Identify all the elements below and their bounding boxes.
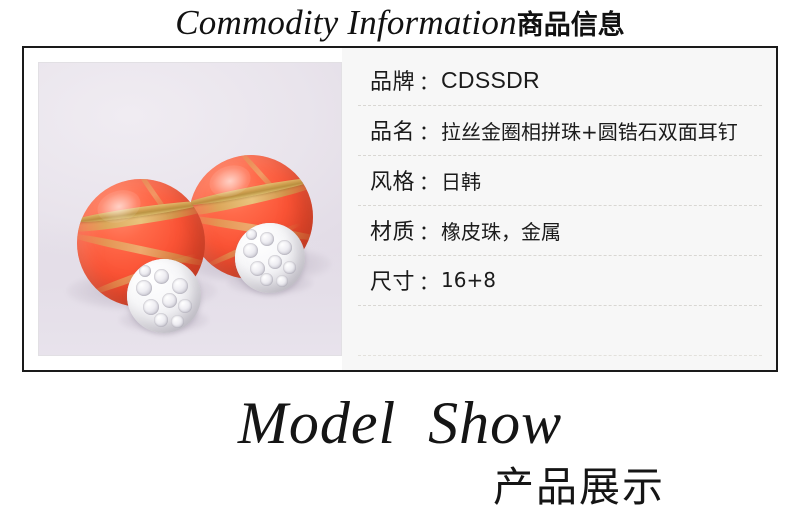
model-show-title-english: Model Show [0, 386, 800, 460]
product-image-pane [24, 48, 342, 370]
product-spec-pane: 品牌 ： CDSSDR 品名 ： 拉丝金圈相拼珠+圆锆石双面耳钉 风格 ： 日韩… [342, 48, 776, 370]
spec-row-style: 风格 ： 日韩 [358, 155, 762, 206]
spec-value-style: 日韩 [441, 166, 481, 195]
crystal-ball-left-icon [127, 259, 201, 333]
model-show-title-chinese: 产品展示 [0, 458, 800, 516]
product-photo[interactable] [38, 62, 342, 356]
spec-value-size: 16+8 [441, 268, 496, 292]
spec-value-brand: CDSSDR [441, 67, 540, 94]
page-title-chinese: 商品信息 [517, 10, 625, 40]
spec-label-size: 尺寸 [358, 264, 415, 296]
spec-row-trailing-divider [358, 305, 762, 356]
spec-colon-product-name: ： [415, 116, 441, 145]
spec-label-material: 材质 [358, 214, 415, 246]
crystal-ball-right-icon [235, 223, 305, 293]
spec-label-style: 风格 [358, 164, 415, 196]
spec-row-material: 材质 ： 橡皮珠，金属 [358, 205, 762, 256]
spec-colon-size: ： [415, 266, 441, 295]
spec-label-brand: 品牌 [358, 64, 415, 96]
spec-value-material: 橡皮珠，金属 [441, 216, 561, 245]
page-title-english: Commodity Information [175, 3, 517, 42]
spec-value-product-name: 拉丝金圈相拼珠+圆锆石双面耳钉 [441, 116, 738, 145]
spec-colon-style: ： [415, 166, 441, 195]
model-show-section: Model Show 产品展示 [0, 386, 800, 532]
spec-row-brand: 品牌 ： CDSSDR [358, 55, 762, 106]
spec-colon-brand: ： [415, 66, 441, 95]
spec-label-product-name: 品名 [358, 114, 415, 146]
spec-colon-material: ： [415, 216, 441, 245]
spec-row-product-name: 品名 ： 拉丝金圈相拼珠+圆锆石双面耳钉 [358, 105, 762, 156]
spec-row-size: 尺寸 ： 16+8 [358, 255, 762, 306]
page-title: Commodity Information商品信息 [0, 2, 800, 44]
commodity-information-card: 品牌 ： CDSSDR 品名 ： 拉丝金圈相拼珠+圆锆石双面耳钉 风格 ： 日韩… [22, 46, 778, 372]
product-spec-list: 品牌 ： CDSSDR 品名 ： 拉丝金圈相拼珠+圆锆石双面耳钉 风格 ： 日韩… [358, 48, 762, 370]
